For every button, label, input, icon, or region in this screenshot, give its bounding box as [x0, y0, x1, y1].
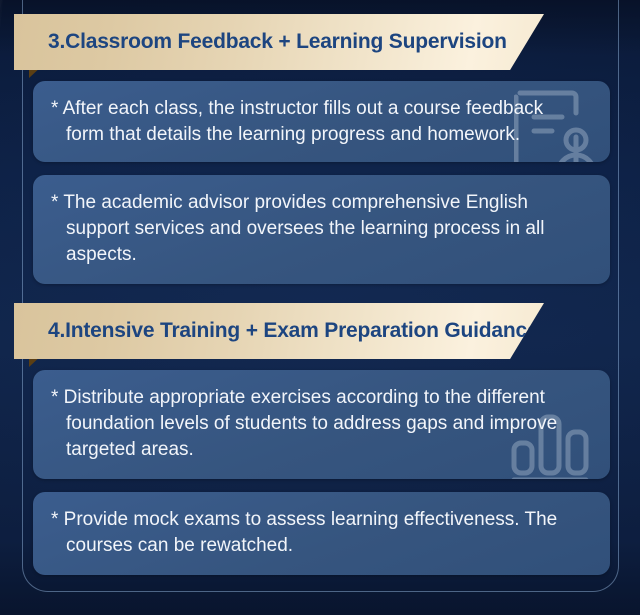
section-3-cards: * After each class, the instructor fills… [0, 81, 640, 284]
section-classroom-feedback: 3.Classroom Feedback + Learning Supervis… [0, 14, 640, 284]
card-text: * After each class, the instructor fills… [51, 96, 586, 148]
card-text: * The academic advisor provides comprehe… [51, 190, 586, 268]
section-4-title: 4.Intensive Training + Exam Preparation … [14, 319, 538, 343]
section-3-title: 3.Classroom Feedback + Learning Supervis… [14, 30, 507, 54]
banner-ribbon: 4.Intensive Training + Exam Preparation … [14, 303, 544, 359]
card-text: * Provide mock exams to assess learning … [51, 507, 586, 559]
section-intensive-training: 4.Intensive Training + Exam Preparation … [0, 303, 640, 575]
info-card: * Provide mock exams to assess learning … [33, 492, 610, 575]
section-4-cards: * Distribute appropriate exercises accor… [0, 370, 640, 575]
slide-content: 3.Classroom Feedback + Learning Supervis… [0, 0, 640, 615]
info-card: * The academic advisor provides comprehe… [33, 175, 610, 284]
section-4-banner: 4.Intensive Training + Exam Preparation … [14, 303, 544, 359]
info-card: * Distribute appropriate exercises accor… [33, 370, 610, 479]
banner-ribbon: 3.Classroom Feedback + Learning Supervis… [14, 14, 544, 70]
card-text: * Distribute appropriate exercises accor… [51, 385, 586, 463]
info-card: * After each class, the instructor fills… [33, 81, 610, 162]
section-3-banner: 3.Classroom Feedback + Learning Supervis… [14, 14, 544, 70]
